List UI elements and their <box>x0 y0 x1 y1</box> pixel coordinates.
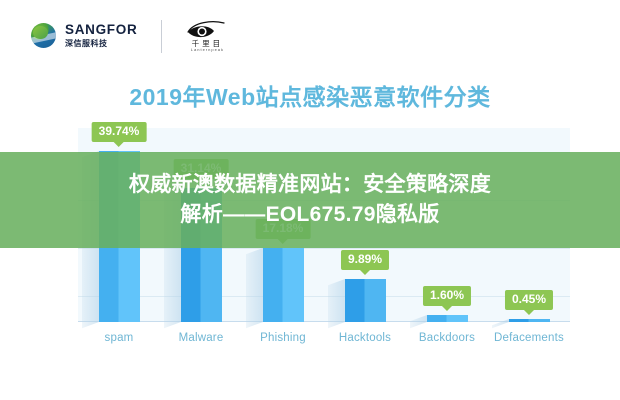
x-label-hacktools: Hacktools <box>324 332 406 344</box>
bar-phishing[interactable]: 17.18% <box>263 248 304 322</box>
bar-value-badge: 0.45% <box>505 290 553 310</box>
x-label-malware: Malware <box>160 332 242 344</box>
sangfor-name-en: SANGFOR <box>65 23 137 37</box>
eye-icon <box>186 20 228 39</box>
bar-side-face <box>328 279 345 328</box>
overlay-line-1: 权威新澳数据精准网站：安全策略深度 <box>36 170 584 200</box>
sangfor-brand-text: SANGFOR 深信服科技 <box>65 23 137 48</box>
overlay-banner: 权威新澳数据精准网站：安全策略深度 解析——EOL675.79隐私版 <box>0 152 620 248</box>
x-axis-labels: spamMalwarePhishingHacktoolsBackdoorsDef… <box>78 332 570 344</box>
overlay-text: 权威新澳数据精准网站：安全策略深度 解析——EOL675.79隐私版 <box>36 170 584 230</box>
bar-defacements[interactable]: 0.45% <box>509 319 550 322</box>
bar-front-face[interactable] <box>509 319 550 322</box>
bar-front-face[interactable] <box>427 315 468 322</box>
brand-logos: SANGFOR 深信服科技 千里目 Lanternpeak <box>31 20 228 53</box>
bar-front-face[interactable] <box>345 279 386 322</box>
bar-value-badge: 1.60% <box>423 286 471 306</box>
sangfor-name-cn: 深信服科技 <box>65 39 137 49</box>
sangfor-logo: SANGFOR 深信服科技 <box>31 23 137 48</box>
bar-side-face <box>492 319 509 328</box>
globe-icon <box>31 23 56 48</box>
overlay-line-2: 解析——EOL675.79隐私版 <box>36 200 584 230</box>
partner-logo: 千里目 Lanternpeak <box>186 20 228 53</box>
bar-side-face <box>246 248 263 328</box>
bar-value-badge: 9.89% <box>341 250 389 270</box>
bar-hacktools[interactable]: 9.89% <box>345 279 386 322</box>
x-label-phishing: Phishing <box>242 332 324 344</box>
chart-title: 2019年Web站点感染恶意软件分类 <box>0 84 620 112</box>
bar-front-face[interactable] <box>263 248 304 322</box>
bar-value-badge: 39.74% <box>92 122 147 142</box>
bar-backdoors[interactable]: 1.60% <box>427 315 468 322</box>
logo-divider <box>161 20 162 53</box>
x-label-spam: spam <box>78 332 160 344</box>
x-label-backdoors: Backdoors <box>406 332 488 344</box>
bar-side-face <box>410 315 427 328</box>
page-header: SANGFOR 深信服科技 千里目 Lanternpeak <box>0 0 620 72</box>
partner-name-en: Lanternpeak <box>191 48 224 52</box>
x-label-defacements: Defacements <box>488 332 570 344</box>
